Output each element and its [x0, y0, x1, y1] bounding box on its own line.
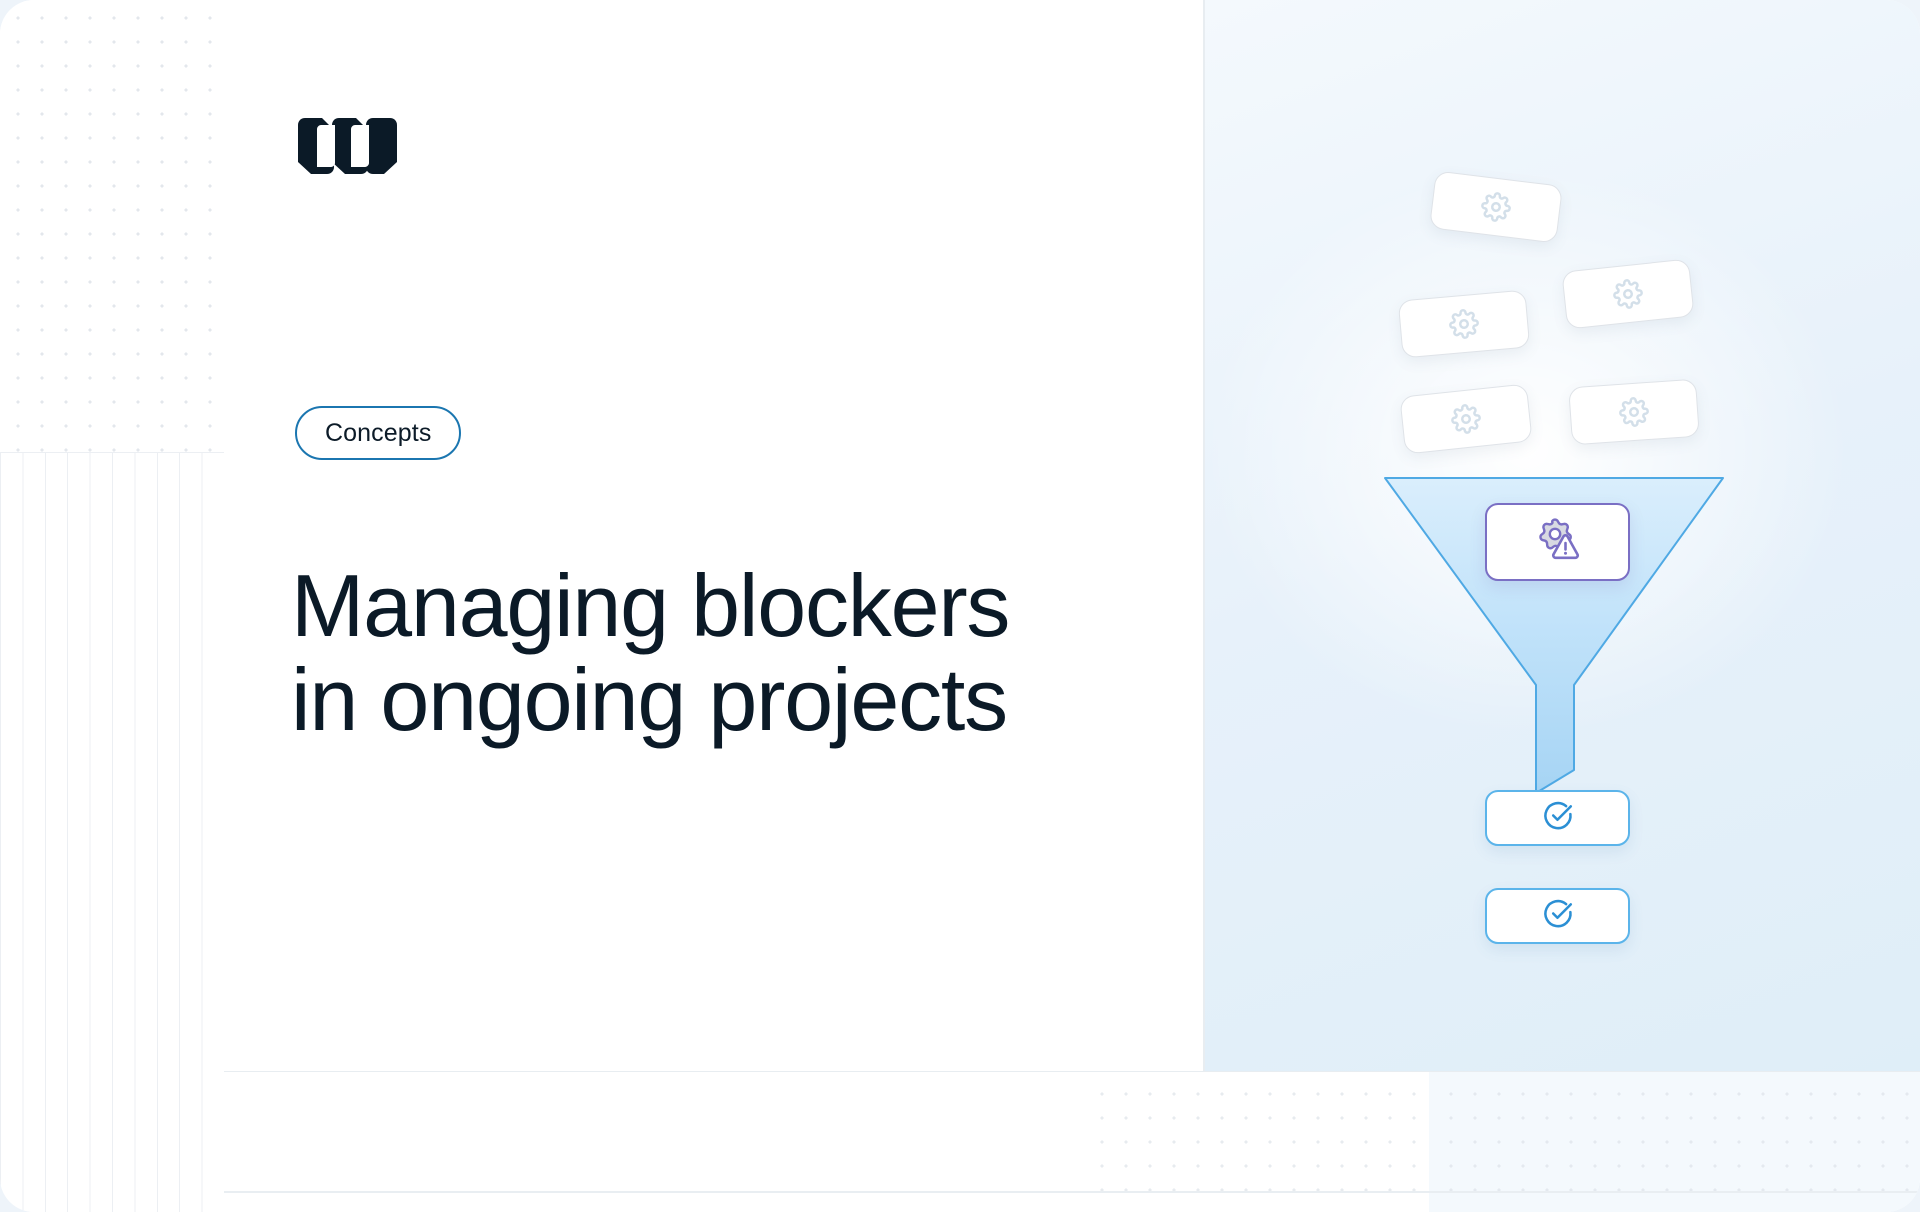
page-title: Managing blockers in ongoing projects — [291, 559, 1171, 747]
category-badge-label: Concepts — [325, 421, 431, 446]
hero-canvas: Concepts Managing blockers in ongoing pr… — [0, 0, 1920, 1212]
gear-icon — [1448, 308, 1481, 341]
gear-icon — [1612, 278, 1645, 311]
check-card-1[interactable] — [1485, 790, 1630, 846]
page-title-line-2: in ongoing projects — [291, 653, 1171, 747]
gear-icon — [1450, 403, 1483, 436]
vertical-stripes-pattern — [0, 452, 224, 1212]
gear-icon — [1479, 190, 1512, 223]
blocker-card[interactable] — [1485, 503, 1630, 581]
screenshot-stage: Concepts Managing blockers in ongoing pr… — [0, 0, 1920, 1212]
gear-icon — [1618, 396, 1650, 428]
brand-logo-icon[interactable] — [294, 114, 402, 178]
gear-card-5[interactable] — [1568, 379, 1700, 446]
check-card-2[interactable] — [1485, 888, 1630, 944]
bottom-decor-strip — [224, 1072, 1920, 1212]
bottom-footer-line — [224, 1191, 1920, 1193]
page-title-line-1: Managing blockers — [291, 559, 1171, 653]
category-badge[interactable]: Concepts — [295, 406, 461, 460]
dot-grid-pattern — [0, 0, 224, 452]
left-decor-rail — [0, 0, 224, 1212]
check-circle-icon — [1542, 898, 1574, 935]
gear-warning-icon — [1533, 517, 1583, 568]
gear-card-2[interactable] — [1398, 290, 1531, 359]
check-circle-icon — [1542, 800, 1574, 837]
